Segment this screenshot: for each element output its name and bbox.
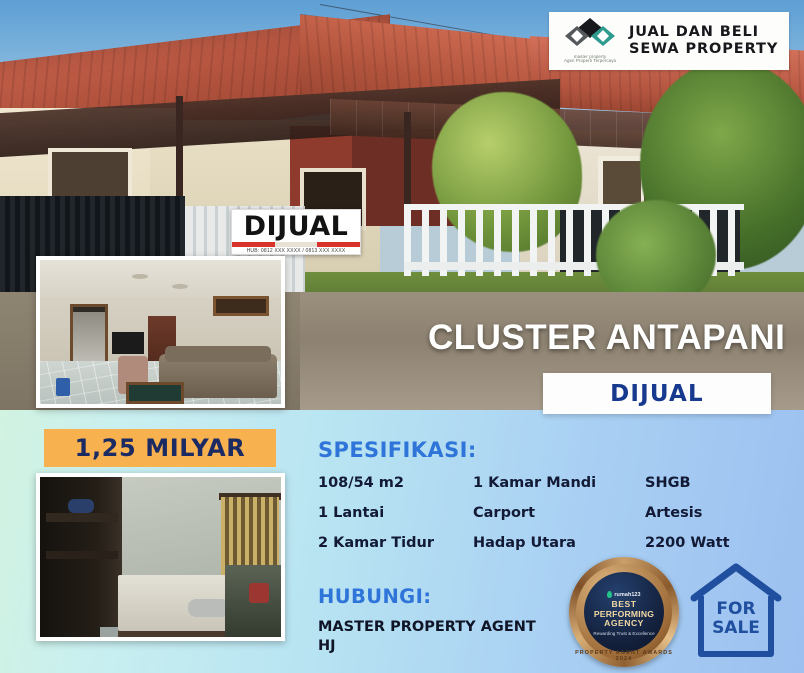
sign-stripe bbox=[232, 242, 360, 247]
logo-caption: master property Agen Properti Terpercaya bbox=[559, 55, 621, 64]
spec-item: SHGB bbox=[645, 475, 788, 491]
for-sale-text: FOR SALE bbox=[690, 600, 782, 638]
bedroom-photo bbox=[40, 477, 281, 637]
spec-grid: 108/54 m2 1 Kamar Mandi SHGB 1 Lantai Ca… bbox=[318, 475, 788, 551]
bedroom-photo-card bbox=[36, 473, 285, 641]
award-badge: rumah123 BEST PERFORMING AGENCY Rewardin… bbox=[569, 557, 679, 667]
contact-name-line1: MASTER PROPERTY AGENT bbox=[318, 619, 536, 635]
logo-caption-line2: Agen Properti Terpercaya bbox=[559, 59, 621, 64]
spec-item: 108/54 m2 bbox=[318, 475, 473, 491]
spec-item: 1 Lantai bbox=[318, 505, 473, 521]
spec-item: Carport bbox=[473, 505, 645, 521]
award-subtitle: Rewarding Trust & Excellence bbox=[593, 631, 654, 636]
spec-item: Artesis bbox=[645, 505, 788, 521]
price-value: 1,25 MILYAR bbox=[75, 434, 246, 462]
living-room-photo-card bbox=[36, 256, 285, 408]
award-line-3: AGENCY bbox=[604, 619, 644, 629]
for-sale-line2: SALE bbox=[712, 618, 760, 638]
specifications-section: SPESIFIKASI: 108/54 m2 1 Kamar Mandi SHG… bbox=[318, 438, 788, 551]
award-arc-text: PROPERTY AGENT AWARDS 2024 bbox=[569, 650, 679, 662]
price-banner: 1,25 MILYAR bbox=[44, 429, 276, 467]
status-badge-label: DIJUAL bbox=[610, 381, 704, 407]
fence-rail bbox=[404, 204, 744, 210]
spec-item: 1 Kamar Mandi bbox=[473, 475, 645, 491]
status-badge: DIJUAL bbox=[543, 373, 771, 414]
spec-heading: SPESIFIKASI: bbox=[318, 438, 788, 462]
brand-line-1: JUAL DAN BELI bbox=[629, 24, 778, 41]
dijual-sign-text: DIJUAL bbox=[244, 212, 349, 242]
page-title: CLUSTER ANTAPANI bbox=[428, 318, 793, 358]
spec-item: 2200 Watt bbox=[645, 535, 788, 551]
master-property-diamond-logo: master property Agen Properti Terpercaya bbox=[559, 17, 621, 65]
brand-header: master property Agen Properti Terpercaya… bbox=[549, 12, 789, 70]
spec-item: Hadap Utara bbox=[473, 535, 645, 551]
brand-line-2: SEWA PROPERTY bbox=[629, 41, 778, 58]
spec-item: 2 Kamar Tidur bbox=[318, 535, 473, 551]
dijual-yard-sign: DIJUAL HUB: 0812 XXX XXXX / 0813 XXX XXX… bbox=[231, 209, 361, 255]
for-sale-house-badge: FOR SALE bbox=[690, 562, 782, 660]
location-pin-icon bbox=[607, 591, 612, 598]
living-room-photo bbox=[40, 260, 281, 404]
contact-name-line2: HJ bbox=[318, 638, 336, 654]
property-listing-poster: DIJUAL HUB: 0812 XXX XXXX / 0813 XXX XXX… bbox=[0, 0, 804, 673]
brand-title: JUAL DAN BELI SEWA PROPERTY bbox=[629, 24, 778, 58]
dijual-sign-subtext: HUB: 0812 XXX XXXX / 0813 XXX XXXX bbox=[247, 248, 346, 254]
award-brand-row: rumah123 bbox=[607, 591, 640, 598]
for-sale-line1: FOR bbox=[716, 599, 755, 619]
diamond-logo-icon bbox=[565, 18, 615, 52]
award-brand: rumah123 bbox=[614, 592, 640, 598]
medal-face: rumah123 BEST PERFORMING AGENCY Rewardin… bbox=[584, 572, 664, 652]
